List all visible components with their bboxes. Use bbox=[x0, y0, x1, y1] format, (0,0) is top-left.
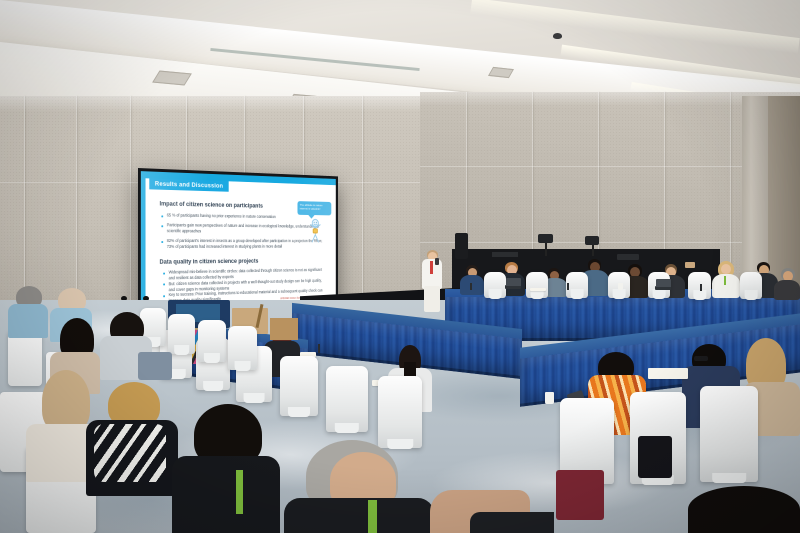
studio-light bbox=[538, 234, 553, 243]
banquet-chair[interactable] bbox=[326, 366, 368, 432]
stage-prop bbox=[685, 262, 695, 268]
loudspeaker bbox=[455, 233, 468, 259]
lanyard bbox=[724, 276, 726, 285]
notepad bbox=[648, 368, 688, 379]
lanyard bbox=[368, 500, 377, 533]
studio-light bbox=[585, 236, 599, 245]
person-patterned-shirt bbox=[94, 424, 166, 482]
paper-document bbox=[530, 288, 546, 291]
conference-room-photo: Results and Discussion Impact of citizen… bbox=[0, 0, 800, 533]
laptop-screen bbox=[656, 279, 671, 287]
person-torso bbox=[284, 498, 434, 533]
banquet-chair[interactable] bbox=[198, 320, 226, 362]
dome-camera-icon bbox=[553, 33, 562, 39]
laptop-screen bbox=[506, 278, 521, 286]
handheld-microphone bbox=[435, 258, 439, 265]
microphone bbox=[700, 284, 702, 291]
av-equipment bbox=[492, 252, 518, 257]
banquet-chair[interactable] bbox=[740, 272, 762, 299]
mascot-illustration-icon bbox=[307, 218, 324, 245]
exhibit-box bbox=[270, 318, 298, 340]
microphone bbox=[567, 283, 569, 290]
folding-chair[interactable] bbox=[8, 330, 42, 386]
microphone bbox=[470, 283, 472, 290]
slide-title: Results and Discussion bbox=[149, 178, 228, 191]
person-torso bbox=[8, 304, 48, 338]
slide-section-heading-2: Data quality in citizen science projects bbox=[159, 258, 258, 266]
paper-cup bbox=[718, 287, 723, 293]
banquet-chair[interactable] bbox=[280, 356, 318, 416]
person-torso bbox=[712, 274, 740, 298]
handbag bbox=[638, 436, 672, 478]
paper-cup bbox=[618, 283, 623, 290]
presenter-legs bbox=[424, 286, 440, 312]
banquet-chair[interactable] bbox=[228, 326, 257, 370]
person-torso bbox=[774, 280, 800, 300]
person-torso bbox=[470, 512, 554, 533]
person-head bbox=[688, 486, 800, 533]
banquet-chair[interactable] bbox=[378, 376, 422, 448]
banquet-chair[interactable] bbox=[168, 314, 195, 354]
presentation-slide: Results and Discussion Impact of citizen… bbox=[141, 171, 336, 316]
banquet-chair[interactable] bbox=[526, 272, 548, 298]
person-torso bbox=[460, 275, 484, 295]
slide-bullet: 82% of participant's interest in insects… bbox=[167, 238, 325, 249]
person-jeans bbox=[138, 352, 172, 380]
banquet-chair[interactable] bbox=[566, 272, 588, 298]
paper-cup bbox=[545, 392, 554, 404]
banquet-chair[interactable] bbox=[484, 272, 506, 298]
person-face bbox=[721, 264, 731, 274]
banquet-chair[interactable] bbox=[700, 386, 758, 482]
backpack bbox=[556, 470, 604, 520]
slide-speech-bubble: The attitude to nature interest is valua… bbox=[297, 201, 331, 215]
eyeglasses-icon bbox=[694, 356, 708, 361]
slide-bullet: Participants gain new perspectives of na… bbox=[167, 222, 325, 234]
microphone bbox=[318, 344, 320, 353]
lanyard bbox=[236, 470, 243, 514]
slide-section-heading-1: Impact of citizen science on participant… bbox=[159, 201, 262, 210]
presenter-lanyard bbox=[430, 261, 433, 274]
person-torso bbox=[172, 456, 280, 533]
person-head bbox=[42, 370, 90, 432]
av-equipment bbox=[617, 254, 639, 260]
